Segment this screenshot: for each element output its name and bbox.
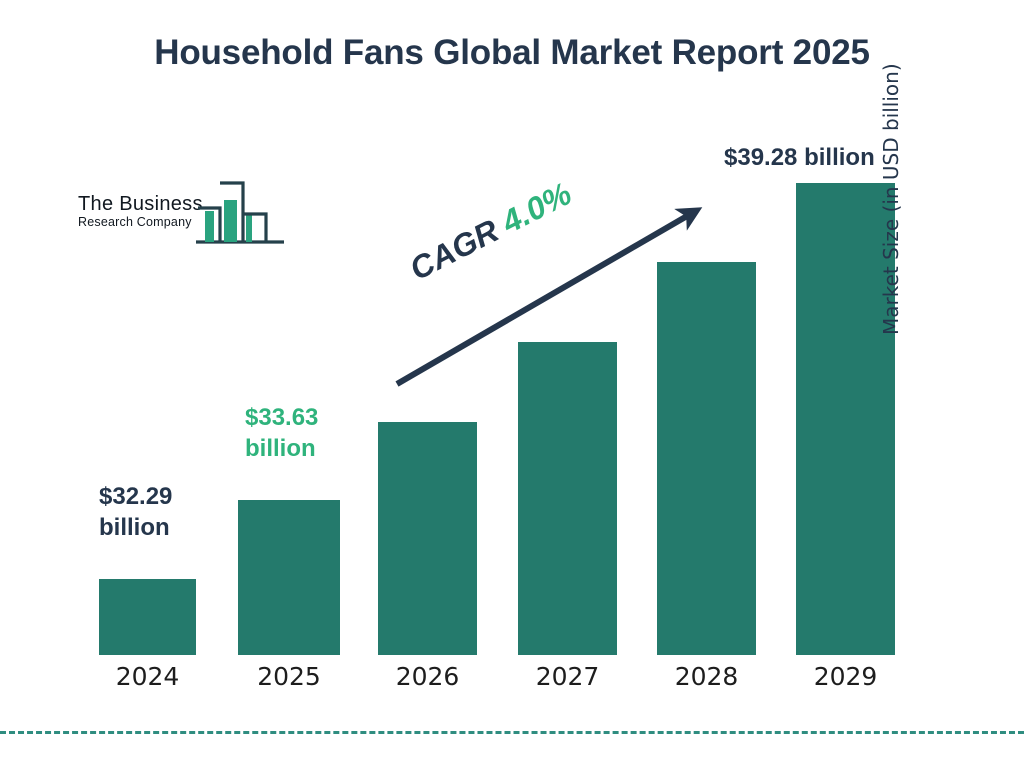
value-label-2025-amount: $33.63 — [245, 403, 318, 434]
xtick-2029: 2029 — [796, 662, 895, 691]
xtick-2025: 2025 — [238, 662, 340, 691]
bar-chart-plot: 2024 2025 2026 2027 2028 2029 $32.29 bil… — [0, 0, 1024, 768]
bar-2024[interactable] — [99, 579, 196, 655]
chart-page: Household Fans Global Market Report 2025… — [0, 0, 1024, 768]
bar-2027[interactable] — [518, 342, 617, 655]
cagr-prefix: CAGR — [404, 208, 512, 287]
footer-divider — [0, 731, 1024, 734]
xtick-2027: 2027 — [518, 662, 617, 691]
value-label-2029: $39.28 billion — [724, 143, 875, 174]
y-axis-title: Market Size (in USD billion) — [879, 15, 903, 335]
value-label-2024-amount: $32.29 — [99, 482, 172, 513]
bar-2028[interactable] — [657, 262, 756, 655]
value-label-2024: $32.29 billion — [99, 482, 172, 543]
value-label-2024-unit: billion — [99, 513, 172, 544]
cagr-value: 4.0% — [496, 175, 577, 240]
bar-2025[interactable] — [238, 500, 340, 655]
xtick-2026: 2026 — [378, 662, 477, 691]
cagr-label: CAGR 4.0% — [404, 175, 578, 288]
xtick-2028: 2028 — [657, 662, 756, 691]
value-label-2025: $33.63 billion — [245, 403, 318, 464]
xtick-2024: 2024 — [99, 662, 196, 691]
bar-2026[interactable] — [378, 422, 477, 655]
value-label-2025-unit: billion — [245, 434, 318, 465]
value-label-2029-amount: $39.28 billion — [724, 143, 875, 174]
